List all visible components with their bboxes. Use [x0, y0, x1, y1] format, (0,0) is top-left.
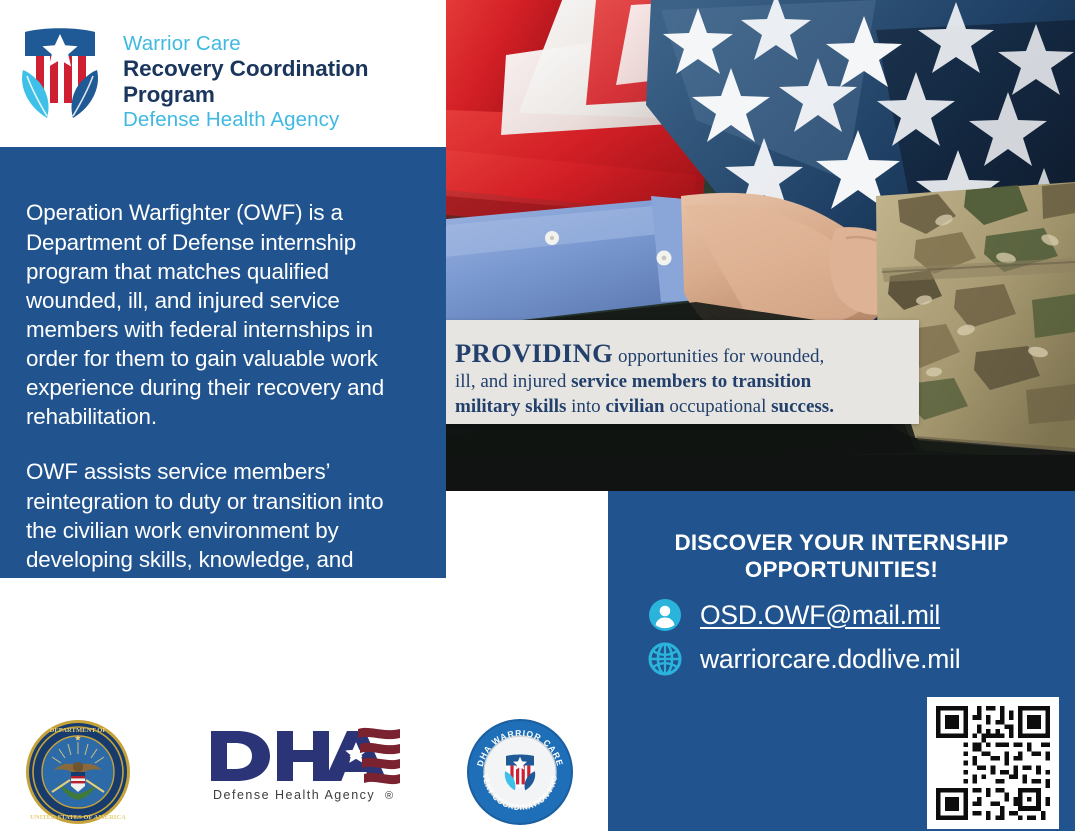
discover-heading-line1: DISCOVER YOUR INTERNSHIP — [674, 530, 1008, 555]
caption-line2-bold: service members to transition — [571, 371, 811, 392]
program-description-copy: Operation Warfighter (OWF) is a Departme… — [26, 176, 418, 625]
svg-text:®: ® — [385, 790, 393, 802]
paragraph-owf-overview: Operation Warfighter (OWF) is a Departme… — [26, 198, 418, 431]
globe-icon-svg — [648, 642, 682, 676]
department-of-defense-seal-icon: DEPARTMENT OF UNITED STATES OF AMERICA — [24, 718, 132, 826]
svg-text:DEPARTMENT OF: DEPARTMENT OF — [50, 727, 107, 734]
caption-line3-bold-a: military skills — [455, 396, 566, 417]
website-url-link[interactable]: warriorcare.dodlive.mil — [700, 644, 960, 675]
shield-icon-svg — [17, 26, 103, 122]
caption-lead-word: PROVIDING — [455, 338, 613, 368]
header-bar: Warrior Care Recovery Coordination Progr… — [0, 0, 446, 147]
flyer-page: PROVIDING opportunities for wounded, ill… — [0, 0, 1075, 831]
globe-icon — [648, 642, 682, 676]
logo-line-warrior-care: Warrior Care — [123, 32, 435, 55]
caption-line2-plain: ill, and injured — [455, 371, 571, 392]
qr-code[interactable] — [927, 697, 1059, 829]
logo-line-recovery-coordination-program: Recovery Coordination Program — [123, 56, 435, 107]
dha-logo-svg: Defense Health Agency ® — [207, 727, 402, 805]
caption-line3-bold-c: success. — [771, 396, 834, 417]
person-circle-icon — [648, 598, 682, 632]
svg-text:UNITED STATES OF AMERICA: UNITED STATES OF AMERICA — [30, 814, 126, 821]
caption-line1-rest: opportunities for wounded, — [613, 346, 824, 367]
caption-line3-plain-a: into — [566, 396, 605, 417]
qr-code-svg[interactable] — [927, 697, 1059, 829]
caption-line3-plain-b: occupational — [665, 396, 772, 417]
discover-heading: DISCOVER YOUR INTERNSHIP OPPORTUNITIES! — [638, 529, 1045, 584]
dha-logo-icon: Defense Health Agency ® — [207, 727, 402, 805]
email-address-link[interactable]: OSD.OWF@mail.mil — [700, 600, 940, 631]
dod-seal-svg: DEPARTMENT OF UNITED STATES OF AMERICA — [24, 718, 132, 826]
warrior-care-logo-lockup: Warrior Care Recovery Coordination Progr… — [17, 26, 435, 126]
logo-line-defense-health-agency: Defense Health Agency — [123, 108, 435, 131]
logo-wordmark: Warrior Care Recovery Coordination Progr… — [123, 26, 435, 131]
caption-line3-bold-b: civilian — [605, 396, 664, 417]
email-contact-row[interactable]: OSD.OWF@mail.mil — [648, 598, 940, 632]
paragraph-owf-benefits: OWF assists service members’ reintegrati… — [26, 457, 418, 603]
photo-caption-band: PROVIDING opportunities for wounded, ill… — [441, 320, 919, 424]
person-circle-icon-svg — [648, 598, 682, 632]
discover-heading-line2: OPPORTUNITIES! — [745, 557, 938, 582]
wcrc-seal-svg: DHA WARRIOR CARE RECOVERY COORDINATION P… — [466, 718, 574, 826]
website-contact-row[interactable]: warriorcare.dodlive.mil — [648, 642, 960, 676]
photo-caption-text: PROVIDING opportunities for wounded, ill… — [455, 336, 907, 420]
warrior-care-shield-icon — [17, 26, 103, 122]
svg-text:Defense Health Agency: Defense Health Agency — [213, 788, 375, 802]
program-description-panel: Operation Warfighter (OWF) is a Departme… — [0, 147, 446, 578]
warrior-care-rcp-seal-icon: DHA WARRIOR CARE RECOVERY COORDINATION P… — [466, 718, 574, 826]
